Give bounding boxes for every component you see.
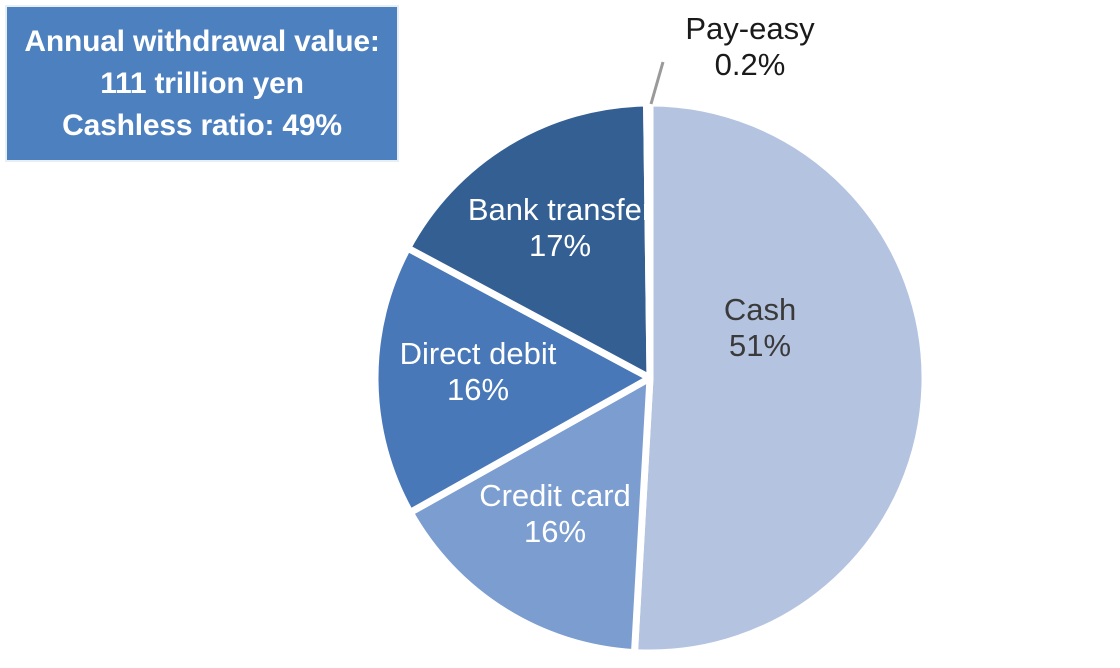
pie-chart-figure: Annual withdrawal value: 111 trillion ye… — [0, 0, 1120, 668]
pie-slice-group — [375, 103, 925, 653]
pie-slice-pay-easy — [647, 103, 650, 378]
pie-svg — [0, 0, 1120, 668]
pay-easy-leader-line — [651, 62, 663, 104]
pie-slice-cash — [634, 103, 925, 653]
